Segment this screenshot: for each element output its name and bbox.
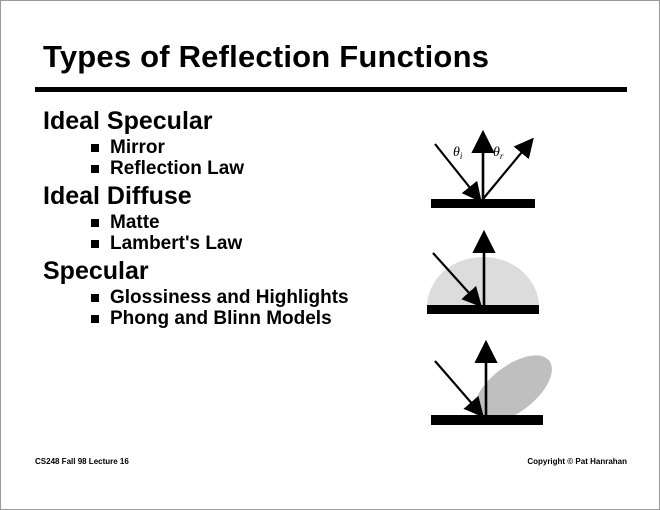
footer-course-info: CS248 Fall 98 Lecture 16 bbox=[35, 457, 129, 466]
glossy-specular-diagram bbox=[405, 331, 575, 441]
list-item-label: Mirror bbox=[110, 138, 165, 157]
incident-ray-arrow bbox=[435, 361, 481, 414]
square-bullet-icon bbox=[91, 294, 99, 302]
square-bullet-icon bbox=[91, 315, 99, 323]
reflected-angle-label: θr bbox=[493, 145, 504, 161]
incident-angle-label: θi bbox=[453, 145, 463, 161]
list-item-label: Glossiness and Highlights bbox=[110, 288, 349, 307]
ideal-specular-svg: θi θr bbox=[405, 119, 565, 219]
section-heading: Specular bbox=[43, 259, 413, 284]
ideal-diffuse-svg bbox=[405, 225, 565, 325]
list-item-label: Phong and Blinn Models bbox=[110, 309, 332, 328]
slide-canvas: Types of Reflection Functions Ideal Spec… bbox=[0, 0, 660, 510]
list-item-label: Reflection Law bbox=[110, 159, 244, 178]
page-title: Types of Reflection Functions bbox=[43, 39, 489, 75]
ideal-specular-diagram: θi θr bbox=[405, 119, 565, 224]
footer-copyright: Copyright © Pat Hanrahan bbox=[527, 457, 627, 466]
outline-section: Specular Glossiness and Highlights Phong… bbox=[43, 259, 413, 328]
list-item: Matte bbox=[91, 213, 413, 232]
list-item: Mirror bbox=[91, 138, 413, 157]
outline-section: Ideal Diffuse Matte Lambert's Law bbox=[43, 184, 413, 253]
list-item: Reflection Law bbox=[91, 159, 413, 178]
list-item: Lambert's Law bbox=[91, 234, 413, 253]
list-item: Phong and Blinn Models bbox=[91, 309, 413, 328]
outline-section: Ideal Specular Mirror Reflection Law bbox=[43, 109, 413, 178]
square-bullet-icon bbox=[91, 144, 99, 152]
glossy-specular-svg bbox=[405, 331, 575, 436]
square-bullet-icon bbox=[91, 240, 99, 248]
ideal-diffuse-diagram bbox=[405, 225, 565, 330]
square-bullet-icon bbox=[91, 219, 99, 227]
list-item-label: Lambert's Law bbox=[110, 234, 242, 253]
surface-bar bbox=[427, 305, 539, 314]
title-divider bbox=[35, 87, 627, 92]
square-bullet-icon bbox=[91, 165, 99, 173]
surface-bar bbox=[431, 415, 543, 425]
list-item: Glossiness and Highlights bbox=[91, 288, 413, 307]
section-heading: Ideal Diffuse bbox=[43, 184, 413, 209]
surface-bar bbox=[431, 199, 535, 208]
section-heading: Ideal Specular bbox=[43, 109, 413, 134]
outline-list: Ideal Specular Mirror Reflection Law Ide… bbox=[43, 109, 413, 334]
reflected-ray-arrow bbox=[483, 141, 531, 199]
list-item-label: Matte bbox=[110, 213, 160, 232]
